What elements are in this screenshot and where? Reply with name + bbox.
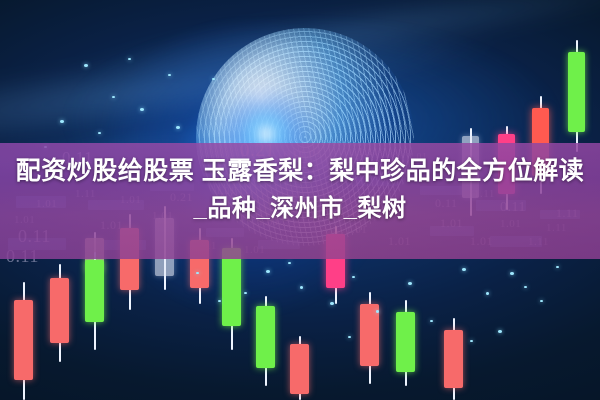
particle bbox=[376, 310, 379, 313]
particle bbox=[498, 330, 502, 333]
particle bbox=[244, 292, 247, 294]
headline-line-2: _品种_深州市_梨树 bbox=[0, 190, 600, 228]
particle bbox=[218, 300, 221, 302]
particle bbox=[168, 74, 171, 76]
particle bbox=[430, 320, 433, 322]
particle bbox=[486, 292, 489, 295]
particle bbox=[98, 132, 101, 134]
headline-line-1: 配资炒股给股票 玉露香梨：梨中珍品的全方位解读 bbox=[0, 152, 600, 190]
particle bbox=[524, 286, 527, 288]
particle bbox=[84, 64, 88, 67]
particle bbox=[352, 276, 355, 278]
particle bbox=[540, 300, 543, 302]
particle bbox=[470, 340, 473, 342]
particle bbox=[176, 126, 180, 129]
particle bbox=[462, 268, 466, 271]
particle bbox=[266, 270, 270, 273]
particle bbox=[112, 96, 115, 98]
particle bbox=[196, 272, 199, 274]
particle bbox=[330, 302, 334, 305]
particle bbox=[60, 120, 64, 123]
particle bbox=[128, 58, 131, 60]
particle bbox=[408, 282, 412, 285]
headline-block: 配资炒股给股票 玉露香梨：梨中珍品的全方位解读 _品种_深州市_梨树 bbox=[0, 152, 600, 228]
particle bbox=[300, 286, 303, 289]
particle bbox=[288, 262, 291, 264]
particle bbox=[510, 272, 514, 275]
particle bbox=[348, 336, 351, 338]
particle bbox=[212, 78, 215, 80]
particle bbox=[140, 108, 144, 111]
particle bbox=[556, 266, 559, 268]
banner-image: 0.110.211.111.011.010.211.011.011.010.11… bbox=[0, 0, 600, 400]
